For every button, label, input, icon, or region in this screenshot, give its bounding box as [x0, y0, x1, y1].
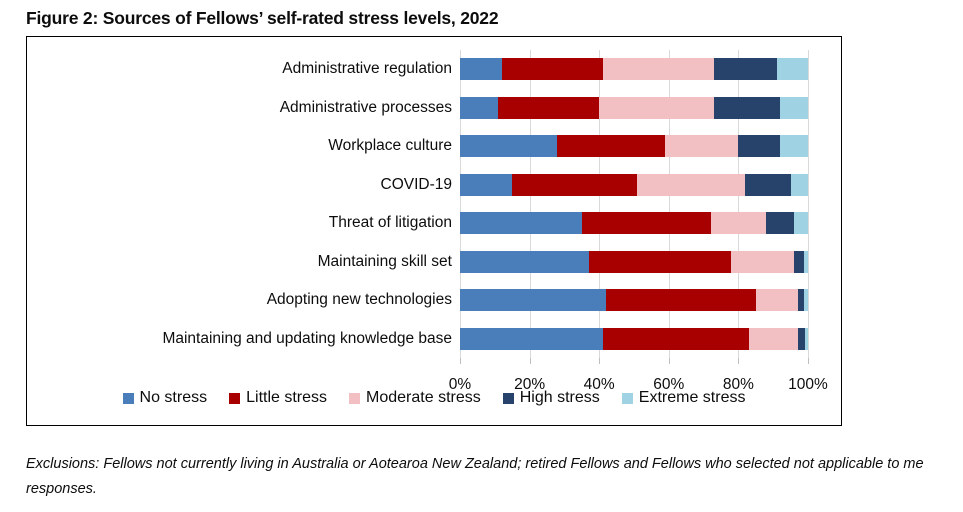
- legend-swatch-icon: [503, 393, 514, 404]
- axis-tick: [808, 358, 809, 364]
- legend-label: No stress: [140, 389, 208, 407]
- legend-swatch-icon: [123, 393, 134, 404]
- footnote: Exclusions: Fellows not currently living…: [26, 452, 936, 503]
- legend-swatch-icon: [349, 393, 360, 404]
- category-label: Maintaining skill set: [318, 251, 452, 273]
- legend-item[interactable]: No stress: [123, 389, 208, 407]
- gridline: [808, 50, 809, 358]
- chart-frame: Administrative regulationAdministrative …: [26, 36, 842, 426]
- category-label: Adopting new technologies: [267, 289, 452, 311]
- category-label: Administrative regulation: [282, 58, 452, 80]
- legend-label: Extreme stress: [639, 389, 746, 407]
- legend-label: Moderate stress: [366, 389, 481, 407]
- legend-label: High stress: [520, 389, 600, 407]
- legend-item[interactable]: Extreme stress: [622, 389, 746, 407]
- value-axis-labels: 0%20%40%60%80%100%: [460, 50, 808, 410]
- chart-plot-wrapper: Administrative regulationAdministrative …: [27, 37, 841, 425]
- category-label: Administrative processes: [280, 97, 452, 119]
- legend-label: Little stress: [246, 389, 327, 407]
- category-label: Maintaining and updating knowledge base: [162, 328, 452, 350]
- category-label: COVID-19: [381, 174, 453, 196]
- legend-item[interactable]: Little stress: [229, 389, 327, 407]
- legend-swatch-icon: [622, 393, 633, 404]
- category-label: Workplace culture: [328, 135, 452, 157]
- legend-item[interactable]: High stress: [503, 389, 600, 407]
- chart-legend: No stressLittle stressModerate stressHig…: [27, 389, 841, 407]
- legend-swatch-icon: [229, 393, 240, 404]
- page-title: Figure 2: Sources of Fellows’ self-rated…: [26, 8, 498, 29]
- category-label: Threat of litigation: [329, 212, 452, 234]
- category-axis-labels: Administrative regulationAdministrative …: [27, 50, 452, 358]
- legend-item[interactable]: Moderate stress: [349, 389, 481, 407]
